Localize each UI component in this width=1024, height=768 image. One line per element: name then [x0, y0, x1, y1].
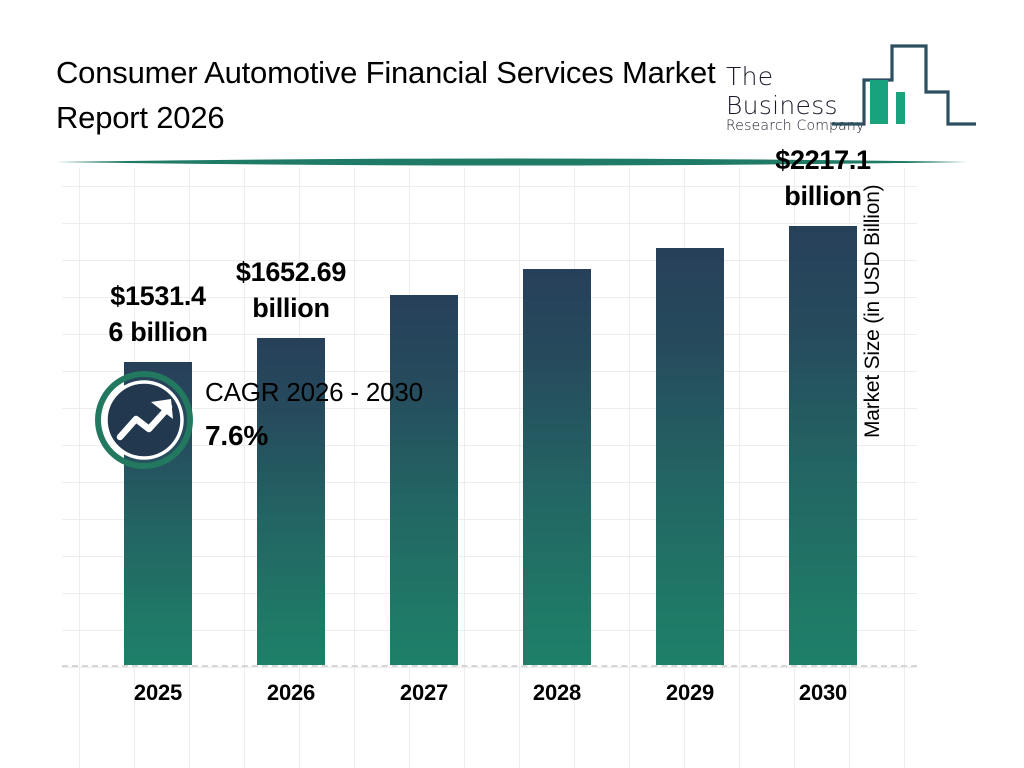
- chart-area: $1531.46 billion$1652.69billion$2217.1bi…: [0, 168, 1024, 768]
- chart-baseline: [62, 665, 917, 667]
- trending-up-arrow-icon: [95, 371, 193, 469]
- cagr-value: 7.6%: [205, 420, 423, 452]
- x-axis-label-2027: 2027: [364, 680, 484, 706]
- x-axis-label-2030: 2030: [763, 680, 883, 706]
- y-axis-title: Market Size (in USD Billion): [861, 38, 901, 438]
- x-axis-label-2028: 2028: [497, 680, 617, 706]
- value-label-line-1: $1652.69: [201, 254, 381, 290]
- cagr-text: CAGR 2026 - 2030 7.6%: [205, 377, 423, 452]
- x-axis-label-2025: 2025: [98, 680, 218, 706]
- x-axis-label-2026: 2026: [231, 680, 351, 706]
- bar-chart-skyline-logo-mark: [830, 36, 978, 132]
- bar-2029: [656, 248, 724, 665]
- value-label-line-2: billion: [201, 290, 381, 326]
- bar-2027: [390, 295, 458, 665]
- gridline-horizontal: [62, 667, 917, 668]
- cagr-badge: CAGR 2026 - 2030 7.6%: [95, 371, 515, 471]
- x-axis-labels: 202520262027202820292030: [0, 680, 1024, 720]
- value-label-2026: $1652.69billion: [201, 254, 381, 326]
- x-axis-label-2029: 2029: [630, 680, 750, 706]
- chart-page: Consumer Automotive Financial Services M…: [0, 0, 1024, 768]
- company-logo: The Business Research Company: [726, 34, 974, 134]
- bar-2030: [789, 226, 857, 665]
- cagr-label: CAGR 2026 - 2030: [205, 377, 423, 408]
- bar-2028: [523, 269, 591, 665]
- page-title: Consumer Automotive Financial Services M…: [56, 50, 736, 140]
